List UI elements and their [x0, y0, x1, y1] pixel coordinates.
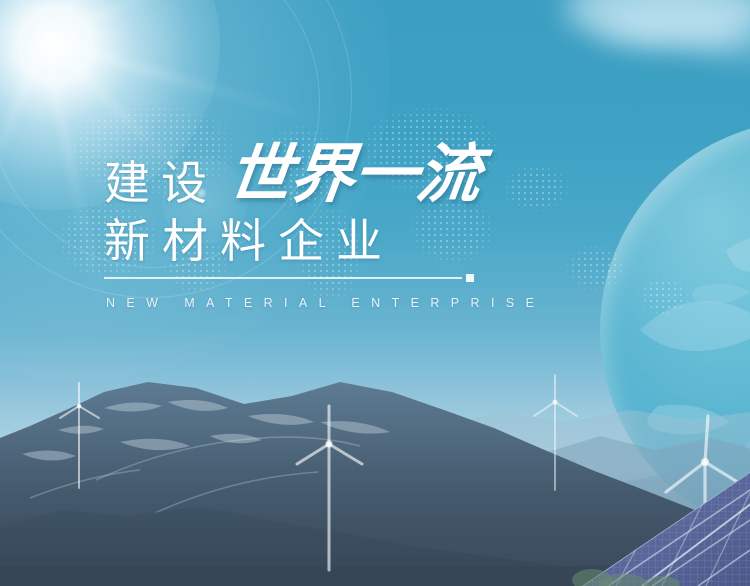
headline-line-2: 新材料企业	[104, 218, 664, 264]
headline-emphasis-text: 世界一流	[224, 142, 484, 206]
solar-panel-icon	[466, 434, 750, 586]
headline-block: 建设 世界一流 新材料企业	[104, 132, 664, 264]
sun-ray	[41, 39, 108, 324]
subtitle: NEW MATERIAL ENTERPRISE	[106, 296, 545, 310]
sun-ray	[0, 38, 47, 253]
wind-turbine-icon	[292, 402, 366, 572]
headline-line-1: 建设 世界一流	[104, 132, 664, 206]
ridge-far	[0, 330, 750, 586]
cloud-icon	[565, 0, 750, 44]
wind-turbine-icon	[56, 380, 102, 490]
hero-banner: 建设 世界一流 新材料企业 NEW MATERIAL ENTERPRISE	[0, 0, 750, 586]
divider-line	[104, 277, 462, 279]
divider-end-square	[466, 274, 474, 282]
cloud-icon	[600, 6, 750, 46]
mountain-range	[0, 330, 750, 586]
cloud-icon	[690, 26, 750, 60]
sun-ray	[42, 0, 200, 40]
wind-turbine-icon	[530, 372, 580, 492]
wind-turbine-icon	[660, 412, 746, 586]
sun-ray	[43, 36, 334, 127]
headline-plain-text: 建设	[104, 160, 218, 206]
sun-ray	[43, 0, 230, 41]
divider	[104, 274, 474, 282]
